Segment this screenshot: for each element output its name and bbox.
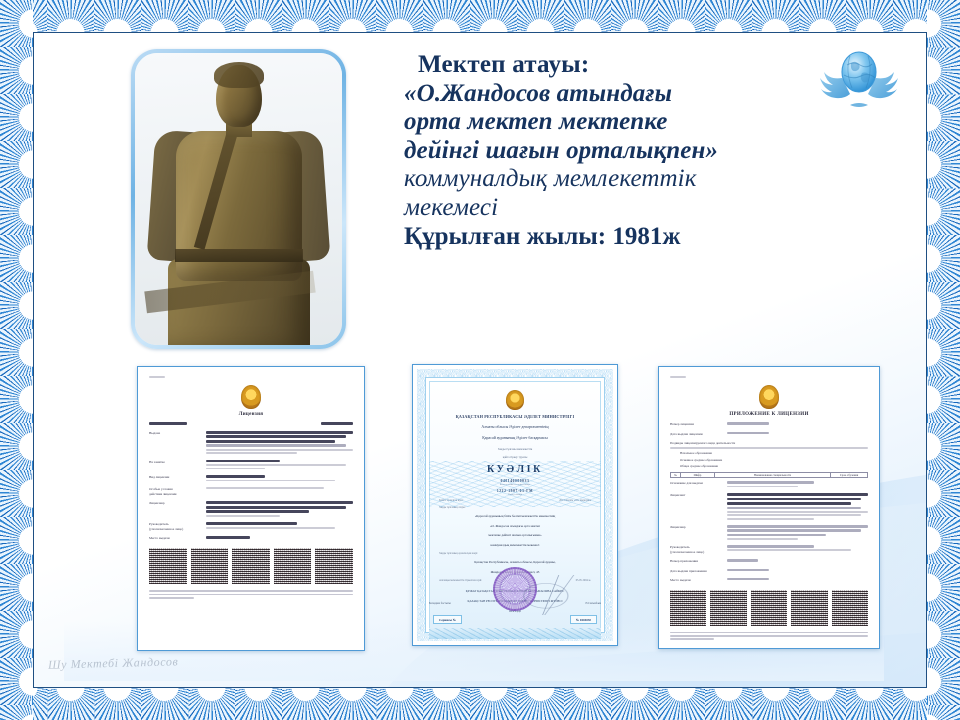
appendix-subitems: Начальное образование Основное среднее о… — [670, 450, 868, 469]
appendix-value-basis — [727, 481, 868, 489]
slide-content: Мектеп атауы: «О.Жандосов атындағы орта … — [34, 33, 926, 687]
border-band-right — [927, 0, 960, 720]
appendix-row-place: Место выдачи — [670, 578, 868, 583]
border-band-left — [0, 0, 33, 720]
emblem-ring — [506, 390, 524, 410]
kualik-entity-2: «О. Жандосов атындағы орта мектеп — [441, 524, 589, 529]
license-label-issued: Выдана — [149, 431, 201, 436]
appendix-row-head: Руководитель (уполномоченное лицо) — [670, 545, 868, 555]
appendix-label-basis: Основание для выдачи — [670, 481, 722, 486]
license-meta-row — [149, 422, 353, 426]
license-label-conditions: Особые условия действия лицензии — [149, 487, 201, 497]
school-name-line-5: мекемесі — [404, 194, 864, 223]
appendix-label-licensor: Лицензиар — [670, 525, 722, 530]
appendix-table-header: № Шифр Наименование специальности Срок о… — [670, 472, 868, 478]
license-value-head — [206, 522, 353, 530]
appendix-row-basis: Основание для выдачи — [670, 481, 868, 489]
appendix-value-appnumber — [727, 559, 868, 563]
kualik-issue-row: Қайта тіркелген күні: 2013 жылғы «05» қы… — [439, 499, 591, 503]
appendix-code-block — [791, 590, 827, 626]
school-name-line-2: орта мектеп мектепке — [404, 108, 864, 137]
founded-year-line: Құрылған жылы: 1981ж — [404, 223, 864, 252]
appendix-label-place: Место выдачи — [670, 578, 722, 583]
kualik-footer-band — [429, 628, 601, 639]
license-label-licensor: Лицензиар — [149, 501, 201, 506]
appendix-label-date: Дата выдачи лицензии — [670, 432, 722, 437]
license-label-place: Место выдачи — [149, 536, 201, 541]
appendix-topline — [670, 376, 868, 379]
ozhandosov-statue-photo — [135, 53, 342, 345]
fan-pattern-right — [927, 0, 960, 720]
license-title: Лицензия — [149, 412, 353, 417]
appendix-paper: ПРИЛОЖЕНИЕ К ЛИЦЕНЗИИ Номер лицензии Дат… — [659, 367, 879, 648]
official-seal-stamp — [493, 567, 537, 611]
license-label-activity: На занятие — [149, 460, 201, 465]
kualik-entity-label: Заңды тұлғаның атауы: — [439, 506, 591, 510]
appendix-label-appnumber: Номер приложения — [670, 559, 722, 564]
license-value-type — [206, 475, 353, 483]
appendix-row-appnumber: Номер приложения — [670, 559, 868, 564]
license-code-block — [149, 548, 187, 584]
appendix-fineprint — [670, 632, 868, 640]
fan-pattern-bottom — [0, 687, 960, 720]
appendix-label-appdate: Дата выдачи приложения — [670, 569, 722, 574]
statue-photo-frame — [131, 49, 346, 349]
appendix-col-duration: Срок обучения — [831, 473, 867, 477]
emblem-ring — [759, 385, 779, 409]
license-value-conditions — [206, 487, 353, 490]
appendix-code-block — [670, 590, 706, 626]
license-topcode — [149, 376, 165, 378]
appendix-value-licensee — [727, 493, 868, 521]
kualik-address-label: Заңды тұлғаның орналасқан жері: — [439, 552, 591, 556]
document-license[interactable]: Лицензия Выдана — [137, 366, 365, 651]
appendix-value-appdate — [727, 569, 868, 573]
kualik-issue-label: Қайта тіркелген күні: — [439, 499, 463, 503]
license-date — [149, 422, 187, 425]
kualik-founded-date: 05.05.1994 ж. — [576, 579, 591, 583]
kazakhstan-state-emblem-icon — [506, 390, 524, 410]
kualik-entity-1: «Қарасай ауданының білім бөлімі мемлекет… — [441, 514, 589, 519]
kualik-signer-label: Басқарма бастығы — [429, 602, 451, 605]
license-row-activity: На занятие — [149, 460, 353, 471]
license-topline — [149, 376, 353, 379]
document-kualik-certificate[interactable]: ҚАЗАҚСТАН РЕСПУБЛИКАСЫ ӘДІЛЕТ МИНИСТРЛІГ… — [412, 364, 618, 646]
license-value-issued — [206, 431, 353, 456]
appendix-label-number: Номер лицензии — [670, 422, 722, 427]
kualik-serial-row: Сериясы № № 0404030 — [433, 615, 597, 624]
appendix-code-block — [832, 590, 868, 626]
license-paper: Лицензия Выдана — [138, 367, 364, 650]
license-row-head: Руководитель (уполномоченное лицо) — [149, 522, 353, 532]
appendix-value-number — [727, 422, 868, 426]
school-name-label: Мектеп атауы: — [404, 51, 864, 80]
kualik-department-1: Алматы облысы Әділет департаментінің — [439, 424, 591, 430]
school-name-line-1: «О.Жандосов атындағы — [404, 80, 864, 109]
kazakhstan-state-emblem-icon — [759, 385, 779, 409]
appendix-row-number: Номер лицензии — [670, 422, 868, 427]
kualik-address-1: Қазақстан Республикасы, Алматы облысы, Қ… — [441, 560, 589, 565]
appendix-subtypes-header: Подвиды лицензируемого вида деятельности — [670, 441, 868, 445]
appendix-code-block — [751, 590, 787, 626]
license-code-block — [274, 548, 312, 584]
license-row-issued: Выдана — [149, 431, 353, 456]
kualik-signer-name: Ә.Сағынбаев — [585, 602, 601, 605]
license-row-place: Место выдачи — [149, 536, 353, 541]
globe-wings-emblem — [820, 45, 898, 115]
license-fineprint — [149, 590, 353, 598]
slide-panel: Мектеп атауы: «О.Жандосов атындағы орта … — [33, 32, 927, 688]
kualik-entity-3: мектепке дейінгі шағын орталығымен» — [441, 533, 589, 538]
license-row-type: Вид лицензии — [149, 475, 353, 483]
appendix-topcode — [670, 376, 686, 378]
slide-watermark: Шу Мектебі Жандосов — [48, 654, 179, 672]
fan-pattern-top — [0, 0, 960, 33]
kualik-caption-2: қайта тіркеу туралы — [439, 455, 591, 460]
slide: Мектеп атауы: «О.Жандосов атындағы орта … — [0, 0, 960, 720]
kualik-issue-date: 2013 жылғы «05» қыркүйек — [559, 499, 591, 503]
appendix-row-date: Дата выдачи лицензии — [670, 432, 868, 437]
appendix-row-appdate: Дата выдачи приложения — [670, 569, 868, 574]
appendix-value-head — [727, 545, 868, 553]
fan-pattern-left — [0, 0, 33, 720]
kualik-caption-1: Заңды тұлғаны мемлекеттік — [439, 447, 591, 452]
license-code-block — [191, 548, 229, 584]
appendix-divider — [670, 447, 868, 449]
appendix-value-date — [727, 432, 868, 436]
border-band-top — [0, 0, 960, 33]
appendix-code-blocks — [670, 590, 868, 626]
license-row-licensor: Лицензиар — [149, 501, 353, 518]
kualik-founded-label: Алғашқы мемлекеттік тіркелген күні: — [439, 579, 482, 583]
kualik-reg-caption: Тіркеу нөмірі — [439, 493, 591, 496]
kualik-bin-caption: Бизнес-сәйкестендіру нөмірі — [439, 483, 591, 486]
license-row-conditions: Особые условия действия лицензии — [149, 487, 353, 497]
license-value-licensor — [206, 501, 353, 518]
kazakhstan-state-emblem-icon — [241, 385, 261, 409]
kualik-department-2: Қарасай ауданының Әділет басқармасы — [439, 435, 591, 441]
statue-hair — [214, 62, 264, 88]
document-license-appendix[interactable]: ПРИЛОЖЕНИЕ К ЛИЦЕНЗИИ Номер лицензии Дат… — [658, 366, 880, 649]
appendix-subitem: Общее среднее образование — [680, 463, 868, 469]
license-value-place — [206, 536, 353, 540]
appendix-title: ПРИЛОЖЕНИЕ К ЛИЦЕНЗИИ — [670, 412, 868, 417]
appendix-row-licensee: Лицензиат — [670, 493, 868, 521]
appendix-code-block — [710, 590, 746, 626]
school-name-line-4: коммуналдық мемлекеттік — [404, 165, 864, 194]
appendix-value-licensor — [727, 525, 868, 541]
appendix-col-specialty: Наименование специальности — [715, 473, 831, 477]
license-code-blocks — [149, 548, 353, 584]
kualik-serial-value: № 0404030 — [570, 615, 597, 624]
school-name-line-3: дейінгі шағын орталықпен» — [404, 137, 864, 166]
license-label-type: Вид лицензии — [149, 475, 201, 480]
license-code-block — [232, 548, 270, 584]
appendix-col-code: Шифр — [681, 473, 715, 477]
license-code-block — [315, 548, 353, 584]
license-number — [321, 422, 353, 425]
appendix-col-num: № — [671, 473, 681, 477]
kualik-serial-label: Сериясы № — [433, 615, 462, 624]
license-value-activity — [206, 460, 353, 471]
appendix-label-licensee: Лицензиат — [670, 493, 722, 498]
school-title-block: Мектеп атауы: «О.Жандосов атындағы орта … — [404, 51, 864, 252]
appendix-value-place — [727, 578, 868, 582]
emblem-ring — [241, 385, 261, 409]
kualik-heading: КУӘЛІК — [439, 464, 591, 475]
kualik-entity-4: коммуналдық мемлекеттік мекемесі — [441, 543, 589, 548]
statue-belt — [175, 249, 303, 262]
kualik-ministry: ҚАЗАҚСТАН РЕСПУБЛИКАСЫ ӘДІЛЕТ МИНИСТРЛІГ… — [439, 414, 591, 419]
appendix-label-head: Руководитель (уполномоченное лицо) — [670, 545, 722, 555]
license-label-head: Руководитель (уполномоченное лицо) — [149, 522, 201, 532]
appendix-row-licensor: Лицензиар — [670, 525, 868, 541]
border-band-bottom — [0, 687, 960, 720]
